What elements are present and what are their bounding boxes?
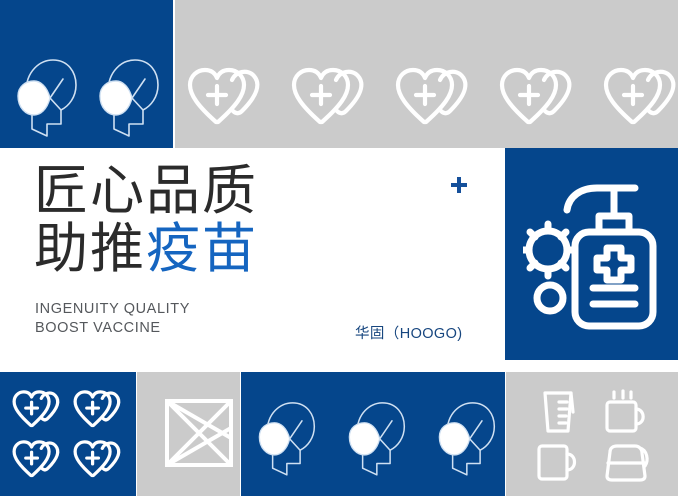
bottom-heart-icon-grid: [10, 386, 130, 484]
top-band: [0, 0, 678, 148]
mug-icon: [534, 440, 582, 484]
teapot-icon: [600, 440, 652, 484]
subtitle-block: INGENUITY QUALITY BOOST VACCINE: [35, 300, 190, 338]
subtitle-line-1: INGENUITY QUALITY: [35, 300, 190, 319]
subtitle-line-2: BOOST VACCINE: [35, 319, 190, 338]
double-heart-plus-icon: [72, 438, 130, 482]
brand-name: 华固（HOOGO): [355, 322, 463, 343]
mask-face-icon: [248, 395, 320, 477]
top-mask-icon-group: [6, 52, 166, 142]
double-heart-plus-icon: [498, 64, 586, 132]
mask-face-icon: [6, 52, 82, 138]
bottom-masks-block: [241, 372, 505, 496]
bottom-row: [0, 372, 678, 496]
bottom-vessels-block: [506, 372, 678, 496]
right-blue-panel: [505, 148, 678, 360]
plus-mark-icon: [450, 176, 468, 194]
double-heart-plus-icon: [11, 438, 69, 482]
steaming-mug-icon: [601, 388, 651, 436]
double-heart-plus-icon: [72, 388, 130, 432]
crossed-box-placeholder-icon: [164, 398, 234, 468]
poster-canvas: 匠心品质 助推疫苗 INGENUITY QUALITY BOOST VACCIN…: [0, 0, 678, 496]
bottom-mask-icon-group: [255, 390, 493, 482]
headline-line-2-dark-text: 助推: [34, 219, 146, 279]
mask-face-icon: [428, 395, 500, 477]
top-heart-icon-group: [186, 58, 674, 138]
vessel-icon-grid: [526, 388, 658, 484]
bottom-hearts-block: [0, 372, 136, 496]
headline-block: 匠心品质 助推疫苗: [34, 162, 258, 278]
bottom-placeholder-block: [137, 372, 240, 496]
headline-line-1-text: 匠心品质: [34, 161, 258, 221]
headline-line-2-accent-text: 疫苗: [146, 219, 258, 279]
double-heart-plus-icon: [186, 64, 274, 132]
mask-face-icon: [88, 52, 164, 138]
double-heart-plus-icon: [394, 64, 482, 132]
headline-line-1: 匠心品质: [34, 162, 258, 220]
double-heart-plus-icon: [290, 64, 378, 132]
double-heart-plus-icon: [602, 64, 678, 132]
headline-line-2: 助推疫苗: [34, 220, 258, 278]
double-heart-plus-icon: [11, 388, 69, 432]
mask-face-icon: [338, 395, 410, 477]
hand-sanitizer-bottle-icon: [523, 176, 663, 332]
measuring-beaker-icon: [535, 388, 581, 436]
